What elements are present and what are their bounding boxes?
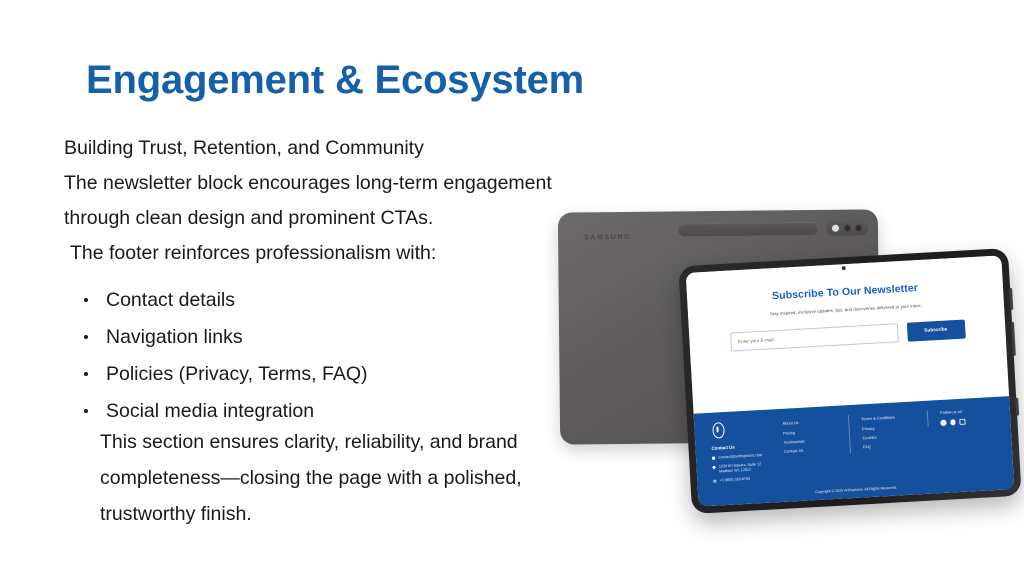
list-item: Policies (Privacy, Terms, FAQ) [80, 356, 550, 393]
page-title: Engagement & Ecosystem [86, 58, 584, 103]
camera-lens-icon [855, 224, 862, 231]
flash-icon [832, 225, 839, 232]
contact-address-row: 1234 Art Square, Suite 12 Madison WI, 12… [712, 461, 775, 475]
newsletter-form: Enter your E-mail Subscribe [715, 319, 980, 353]
facebook-icon[interactable] [941, 420, 947, 426]
brand-logo-icon [710, 422, 725, 439]
phone-icon [713, 480, 717, 484]
tablet-front-device: Subscribe To Our Newsletter Stay inspire… [678, 248, 1021, 514]
footer-brand-block: Contact Us Contact@anthoptions.com 1234 … [710, 419, 782, 488]
instagram-icon[interactable] [959, 419, 965, 425]
feature-bullet-list: Contact details Navigation links Policie… [80, 282, 550, 430]
list-item-label: Contact details [106, 289, 235, 311]
bullet-point-icon [84, 409, 88, 413]
intro-line-1: Building Trust, Retention, and Community [64, 131, 664, 166]
volume-up-button[interactable] [1009, 288, 1013, 310]
bullet-point-icon [84, 372, 88, 376]
footer-nav-column-policies: Terms & Conditions Privacy Cookies FAQ [848, 411, 929, 453]
site-footer: Contact Us Contact@anthoptions.com 1234 … [694, 396, 1015, 506]
bullet-point-icon [84, 298, 88, 302]
footer-social-block: Follow us on : [927, 407, 994, 426]
s-pen-slot [678, 222, 818, 236]
email-input[interactable]: Enter your E-mail [730, 323, 899, 351]
list-item-label: Social media integration [106, 400, 314, 422]
social-heading: Follow us on : [940, 407, 994, 415]
bullet-point-icon [84, 335, 88, 339]
tablet-mockup: SAMSUNG Subscribe To Our Newsletter Stay… [545, 195, 1024, 525]
contact-phone-row[interactable]: +1 (800) 320-6794 [713, 476, 776, 485]
samsung-logo: SAMSUNG [584, 234, 631, 241]
camera-module [826, 220, 868, 235]
tablet-screen: Subscribe To Our Newsletter Stay inspire… [686, 255, 1015, 506]
list-item-label: Policies (Privacy, Terms, FAQ) [106, 363, 368, 385]
social-icon-row [941, 417, 995, 425]
subscribe-button[interactable]: Subscribe [906, 320, 965, 342]
footer-columns: Contact Us Contact@anthoptions.com 1234 … [710, 407, 997, 488]
envelope-icon [712, 457, 716, 461]
volume-down-button[interactable] [1011, 322, 1016, 356]
contact-address-text: 1234 Art Square, Suite 12 Madison WI, 12… [719, 461, 775, 475]
footer-link-columns: About Us Pricing Testimonials Contact Us… [778, 411, 929, 457]
list-item: Contact details [80, 282, 550, 319]
location-pin-icon [712, 465, 717, 470]
footer-nav-column-primary: About Us Pricing Testimonials Contact Us [782, 415, 850, 456]
contact-phone-text: +1 (800) 320-6794 [720, 477, 751, 484]
list-item-label: Navigation links [106, 326, 243, 348]
contact-email-row[interactable]: Contact@anthoptions.com [712, 453, 775, 462]
list-item: Navigation links [80, 319, 550, 356]
camera-lens-icon [844, 225, 851, 232]
twitter-icon[interactable] [950, 419, 956, 425]
logo-inner-shape [716, 427, 719, 433]
contact-heading: Contact Us [711, 443, 774, 451]
contact-email-text: Contact@anthoptions.com [718, 453, 762, 461]
power-button[interactable] [1015, 398, 1019, 416]
newsletter-section: Subscribe To Our Newsletter Stay inspire… [686, 255, 1007, 367]
